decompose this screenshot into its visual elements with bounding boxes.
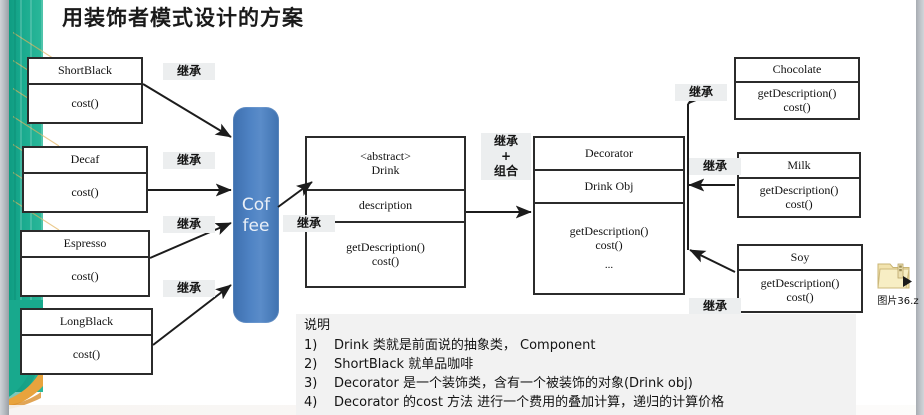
list-item: 3) Decorator 是一个装饰类，含有一个被装饰的对象(Drink obj… — [296, 374, 856, 393]
left-frame-edge — [0, 0, 9, 415]
right-frame-edge — [916, 0, 924, 415]
class-ops-chocolate: getDescription() cost() — [736, 83, 858, 118]
coffee-node: Cof fee — [233, 107, 279, 323]
notes-panel: 说明 1) Drink 类就是前面说的抽象类， Component 2) Sho… — [296, 314, 856, 415]
folder-zip-icon[interactable] — [876, 258, 916, 292]
relation-label-inherit-longblack: 继承 — [163, 280, 215, 297]
class-name-soy: Soy — [739, 246, 861, 271]
relation-label-text: 继承 — [287, 216, 331, 231]
note-text: Decorator 的cost 方法 进行一个费用的叠加计算，递归的计算价格 — [334, 393, 856, 412]
class-ops-drink: getDescription() cost() — [307, 223, 464, 286]
op-cost: cost() — [346, 255, 425, 269]
coffee-node-label: Cof fee — [233, 195, 279, 237]
op-getdescription: getDescription() — [758, 87, 837, 101]
class-box-soy: Soy getDescription() cost() — [737, 244, 863, 313]
relation-label-text: 继承 — [693, 159, 737, 174]
class-stereotype-drink: <abstract> — [360, 150, 411, 164]
page-title: 用装饰者模式设计的方案 — [62, 2, 304, 32]
relation-label-composition-text: 组合 — [485, 164, 527, 179]
op-cost: cost() — [758, 101, 837, 115]
note-text: ShortBlack 就单品咖啡 — [334, 355, 856, 374]
relation-label-inherit-text: 继承 — [485, 134, 527, 149]
class-ops-decorator: getDescription() cost() ... — [535, 204, 683, 293]
desktop-file-icon[interactable]: 图片36.z — [876, 258, 920, 308]
relation-label-inherit-milk: 继承 — [689, 158, 741, 175]
coffee-label-line1: Cof — [233, 195, 279, 216]
relation-label-inherit-soy: 继承 — [689, 298, 741, 315]
class-box-drink: <abstract> Drink description getDescript… — [305, 136, 466, 288]
relation-label-inherit-shortblack: 继承 — [163, 63, 215, 80]
class-box-espresso: Espresso cost() — [20, 230, 150, 297]
class-ops-longblack: cost() — [22, 336, 151, 373]
op-cost: cost() — [71, 270, 98, 284]
relation-label-text: 继承 — [167, 217, 211, 232]
note-number: 3) — [304, 374, 334, 393]
relation-label-inherit-chocolate: 继承 — [675, 84, 727, 101]
class-header-drink: <abstract> Drink — [307, 138, 464, 191]
note-number: 4) — [304, 393, 334, 412]
relation-label-plus-text: + — [485, 149, 527, 164]
class-ops-espresso: cost() — [22, 258, 148, 295]
class-ops-soy: getDescription() cost() — [739, 271, 861, 311]
note-number: 1) — [304, 336, 334, 355]
relation-label-text: 继承 — [693, 299, 737, 314]
class-name-decaf: Decaf — [24, 148, 146, 174]
class-box-longblack: LongBlack cost() — [20, 308, 153, 375]
op-cost: cost() — [570, 239, 649, 253]
class-name-shortblack: ShortBlack — [29, 59, 141, 85]
relation-label-inherit-composition: 继承 + 组合 — [481, 133, 531, 180]
class-name-drink: Drink — [360, 164, 411, 178]
note-text: Decorator 是一个装饰类，含有一个被装饰的对象(Drink obj) — [334, 374, 856, 393]
op-getdescription: getDescription() — [760, 184, 839, 198]
list-item: 2) ShortBlack 就单品咖啡 — [296, 355, 856, 374]
note-text: Drink 类就是前面说的抽象类， Component — [334, 336, 856, 355]
op-cost: cost() — [761, 291, 840, 305]
op-getdescription: getDescription() — [570, 225, 649, 239]
class-name-chocolate: Chocolate — [736, 59, 858, 83]
relation-label-inherit-decaf: 继承 — [163, 152, 215, 169]
class-name-milk: Milk — [739, 154, 859, 179]
class-box-decaf: Decaf cost() — [22, 146, 148, 213]
relation-label-text: 继承 — [167, 153, 211, 168]
op-getdescription: getDescription() — [346, 241, 425, 255]
list-item: 1) Drink 类就是前面说的抽象类， Component — [296, 336, 856, 355]
op-getdescription: getDescription() — [761, 277, 840, 291]
attr-drink-obj: Drink Obj — [585, 180, 634, 194]
class-name-longblack: LongBlack — [22, 310, 151, 336]
relation-label-inherit-coffee-drink: 继承 — [283, 215, 335, 232]
class-name-decorator: Decorator — [535, 138, 683, 171]
desktop-file-label: 图片36.z — [872, 292, 924, 307]
op-cost: cost() — [71, 186, 98, 200]
class-box-chocolate: Chocolate getDescription() cost() — [734, 57, 860, 120]
class-ops-milk: getDescription() cost() — [739, 179, 859, 216]
op-cost: cost() — [71, 97, 98, 111]
class-attrs-decorator: Drink Obj — [535, 171, 683, 204]
slide-canvas: 用装饰者模式设计的方案 ShortBlack cost() Decaf cost… — [0, 0, 924, 415]
note-number: 2) — [304, 355, 334, 374]
class-name-espresso: Espresso — [22, 232, 148, 258]
class-ops-decaf: cost() — [24, 174, 146, 211]
notes-header: 说明 — [296, 314, 856, 336]
class-box-shortblack: ShortBlack cost() — [27, 57, 143, 124]
attr-description: description — [359, 199, 412, 213]
op-cost: cost() — [73, 348, 100, 362]
list-item: 4) Decorator 的cost 方法 进行一个费用的叠加计算，递归的计算价… — [296, 393, 856, 412]
relation-label-text: 继承 — [167, 64, 211, 79]
op-ellipsis: ... — [570, 253, 649, 272]
op-cost: cost() — [760, 198, 839, 212]
coffee-label-line2: fee — [233, 216, 279, 237]
class-box-milk: Milk getDescription() cost() — [737, 152, 861, 218]
class-ops-shortblack: cost() — [29, 85, 141, 122]
relation-label-text: 继承 — [679, 85, 723, 100]
relation-label-text: 继承 — [167, 281, 211, 296]
relation-label-inherit-espresso: 继承 — [163, 216, 215, 233]
notes-list: 1) Drink 类就是前面说的抽象类， Component 2) ShortB… — [296, 336, 856, 412]
class-box-decorator: Decorator Drink Obj getDescription() cos… — [533, 136, 685, 295]
